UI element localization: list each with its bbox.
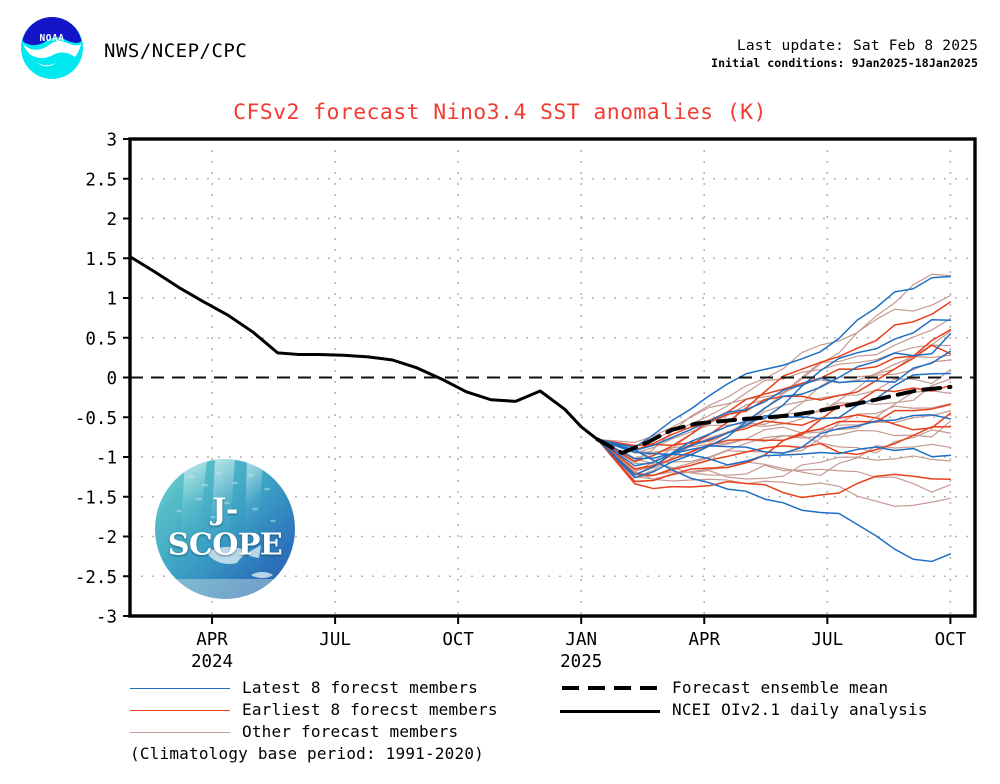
legend-label: NCEI OIv2.1 daily analysis (672, 700, 928, 719)
chart-legend: Latest 8 forecst membersEarliest 8 forec… (0, 670, 1000, 784)
legend-label: Latest 8 forecst members (242, 678, 478, 697)
x-tick-year-label: 2024 (191, 652, 233, 672)
ensemble-member-line (598, 345, 951, 450)
chart-page: NOAA NWS/NCEP/CPC Last update: Sat Feb 8… (0, 0, 1000, 784)
legend-label: Forecast ensemble mean (672, 678, 888, 697)
y-tick-label: 1 (106, 290, 117, 310)
y-tick-label: -1.5 (75, 488, 117, 508)
observed-analysis-line (130, 257, 598, 440)
legend-line-swatch (560, 710, 660, 713)
x-tick-label: JAN (565, 630, 597, 650)
x-tick-label: JUL (319, 630, 351, 650)
y-tick-label: -2 (96, 528, 117, 548)
chart-svg: 32.521.510.50-0.5-1-1.5-2-2.5-3APR2024JU… (0, 0, 1000, 784)
y-tick-label: -0.5 (75, 409, 117, 429)
legend-line-swatch (130, 732, 230, 733)
x-tick-label: APR (196, 630, 228, 650)
y-tick-label: 0 (106, 369, 117, 389)
legend-label: Other forecast members (242, 722, 458, 741)
jscope-logo: J-SCOPE (155, 459, 295, 599)
y-tick-label: 2.5 (85, 170, 117, 190)
x-tick-label: OCT (442, 630, 474, 650)
y-tick-label: -3 (96, 608, 117, 628)
legend-label: Earliest 8 forecst members (242, 700, 498, 719)
legend-line-swatch (130, 710, 230, 711)
x-tick-year-label: 2025 (560, 652, 602, 672)
jscope-label: J-SCOPE (155, 493, 295, 563)
y-tick-label: -2.5 (75, 568, 117, 588)
legend-line-swatch (130, 688, 230, 689)
y-tick-label: 2 (106, 210, 117, 230)
climatology-note: (Climatology base period: 1991-2020) (130, 744, 484, 763)
y-tick-label: -1 (96, 449, 117, 469)
y-tick-label: 0.5 (85, 329, 117, 349)
x-tick-label: APR (688, 630, 720, 650)
y-tick-label: 3 (106, 131, 117, 151)
x-tick-label: OCT (935, 630, 967, 650)
y-tick-label: 1.5 (85, 250, 117, 270)
ensemble-member-line (598, 302, 951, 475)
x-tick-label: JUL (812, 630, 844, 650)
plot-area: 32.521.510.50-0.5-1-1.5-2-2.5-3APR2024JU… (0, 0, 1000, 784)
